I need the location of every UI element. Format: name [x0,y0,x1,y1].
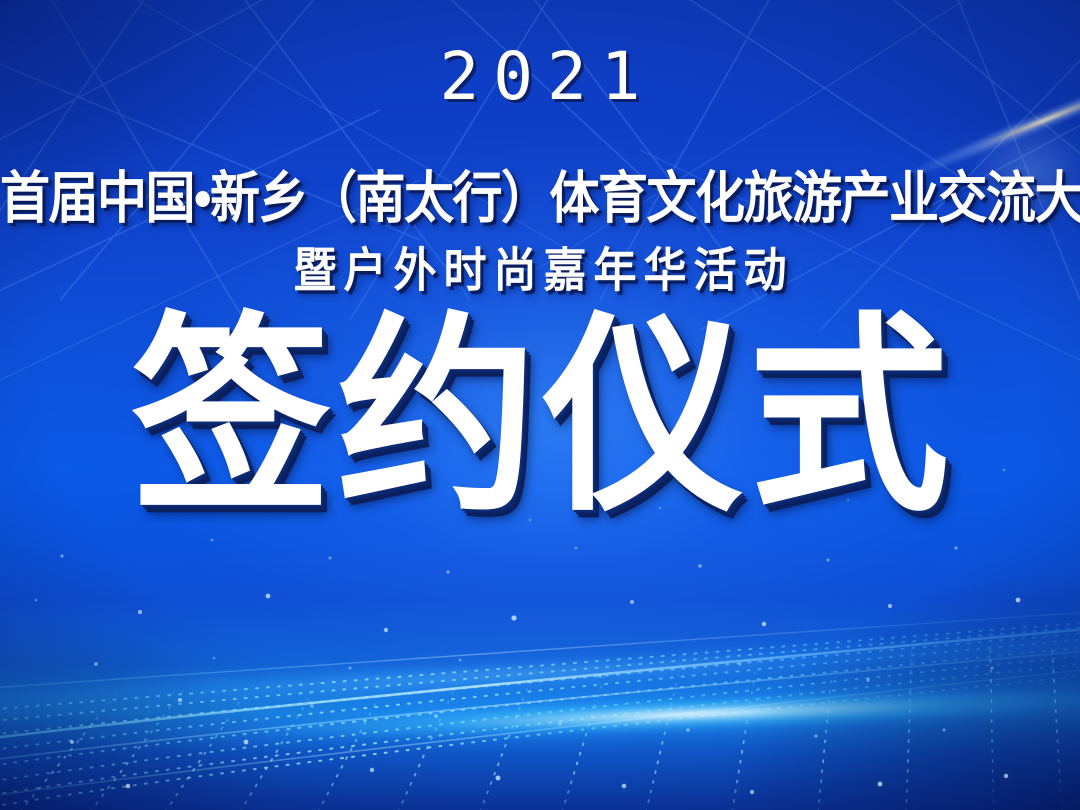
event-title-line-2: 暨户外时尚嘉年华活动 [0,246,1080,298]
year-label: 2021 [0,44,1080,110]
poster-canvas: 2021 首届中国•新乡（南太行）体育文化旅游产业交流大会 暨户外时尚嘉年华活动… [0,0,1080,810]
event-title-line-1: 首届中国•新乡（南太行）体育文化旅游产业交流大会 [0,168,1080,230]
poster-text-content: 2021 首届中国•新乡（南太行）体育文化旅游产业交流大会 暨户外时尚嘉年华活动… [0,0,1080,810]
poster-headline: 签约仪式 [0,312,1080,524]
